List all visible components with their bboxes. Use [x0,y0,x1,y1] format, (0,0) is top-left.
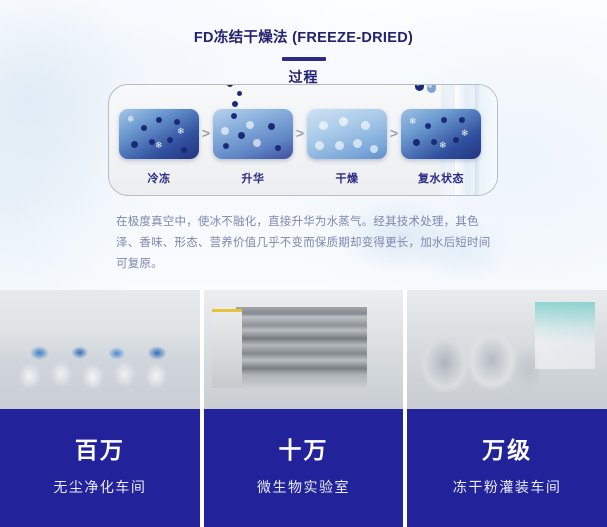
process-stage-dry: 干燥 [307,85,387,195]
void-dot [246,121,254,129]
frozen-block-icon: ❄ ❄ ❄ [119,103,199,165]
cleanroom-photo [0,290,200,409]
snowflake-icon: ❄ [127,115,135,124]
facility-grade: 万级 [482,431,532,465]
facility-name: 冻干粉灌装车间 [453,477,562,497]
facility-name: 微生物实验室 [257,477,350,497]
block-body: ❄ ❄ ❄ [401,109,481,159]
particle-dot [431,139,437,145]
water-droplet-icon [415,84,424,91]
facility-card[interactable]: 万级 冻干粉灌装车间 [407,290,607,527]
particle-dot [275,145,281,151]
void-dot [339,117,348,126]
sublimation-block-icon [213,103,293,165]
particle-dot [223,143,229,149]
particle-dot [156,117,162,123]
facility-card-caption: 百万 无尘净化车间 [0,409,200,527]
rehydrated-block-icon: ❄ ❄ ❄ [401,103,481,165]
facility-card[interactable]: 十万 微生物实验室 [204,290,404,527]
snowflake-icon: ❄ [439,141,447,150]
snowflake-icon: ❄ [177,127,185,136]
block-body: ❄ ❄ ❄ [119,109,199,159]
stage-separator-chevron-icon: > [293,125,307,155]
title-divider [282,57,326,61]
block-body [213,109,293,159]
snowflake-icon: ❄ [461,129,469,138]
snowflake-icon: ❄ [155,141,163,150]
particle-dot [231,113,237,119]
water-droplet-icon [427,84,436,93]
process-stage-sublimation: 升华 [213,85,293,195]
void-dot [353,139,362,148]
void-dot [221,127,229,135]
facility-grade: 十万 [279,431,329,465]
facility-card-caption: 十万 微生物实验室 [204,409,404,527]
particle-dot [167,137,173,143]
particle-dot [441,117,447,123]
process-stage-label: 干燥 [336,170,359,186]
void-dot [319,121,328,130]
particle-dot [268,123,275,130]
particle-dot [174,119,180,125]
escaping-particle-dot [237,91,242,96]
escaping-particle-dot [227,84,233,87]
block-body [307,109,387,159]
facility-card[interactable]: 百万 无尘净化车间 [0,290,200,527]
process-panel: ❄ ❄ ❄ 冷冻 > [108,84,498,196]
process-stage-list: ❄ ❄ ❄ 冷冻 > [109,85,497,195]
process-stage-label: 复水状态 [418,170,464,186]
void-dot [335,141,344,150]
page-title: FD冻结干燥法 (FREEZE-DRIED) [0,26,607,47]
particle-dot [453,137,459,143]
facility-grade: 百万 [75,431,125,465]
void-dot [370,145,378,153]
particle-dot [413,139,420,146]
stage-separator-chevron-icon: > [199,125,213,155]
void-dot [253,139,261,147]
freeze-dried-powder-filling-photo [407,290,607,409]
page-background: FD冻结干燥法 (FREEZE-DRIED) 过程 ❄ ❄ ❄ [0,0,607,527]
void-dot [315,141,324,150]
escaping-particle-dot [232,101,238,107]
particle-dot [141,125,147,131]
process-stage-label: 冷冻 [148,170,171,186]
particle-dot [131,141,138,148]
dried-block-icon [307,103,387,165]
void-dot [361,121,370,130]
particle-dot [238,132,245,139]
process-stage-rehydrated: ❄ ❄ ❄ 复水状态 [401,85,481,195]
facility-card-list: 百万 无尘净化车间 十万 微生物实验室 万级 冻干粉灌装车间 [0,290,607,527]
process-stage-freeze: ❄ ❄ ❄ 冷冻 [119,85,199,195]
header: FD冻结干燥法 (FREEZE-DRIED) 过程 [0,26,607,87]
snowflake-icon: ❄ [409,117,417,126]
particle-dot [181,147,187,153]
microbiology-lab-photo [204,290,404,409]
particle-dot [459,117,465,123]
stage-separator-chevron-icon: > [387,125,401,155]
particle-dot [149,139,155,145]
facility-card-caption: 万级 冻干粉灌装车间 [407,409,607,527]
process-description: 在极度真空中，使冰不融化，直接升华为水蒸气。经其技术处理，其色泽、香味、形态、营… [116,212,496,275]
facility-name: 无尘净化车间 [53,477,146,497]
process-stage-label: 升华 [242,170,265,186]
particle-dot [425,123,431,129]
